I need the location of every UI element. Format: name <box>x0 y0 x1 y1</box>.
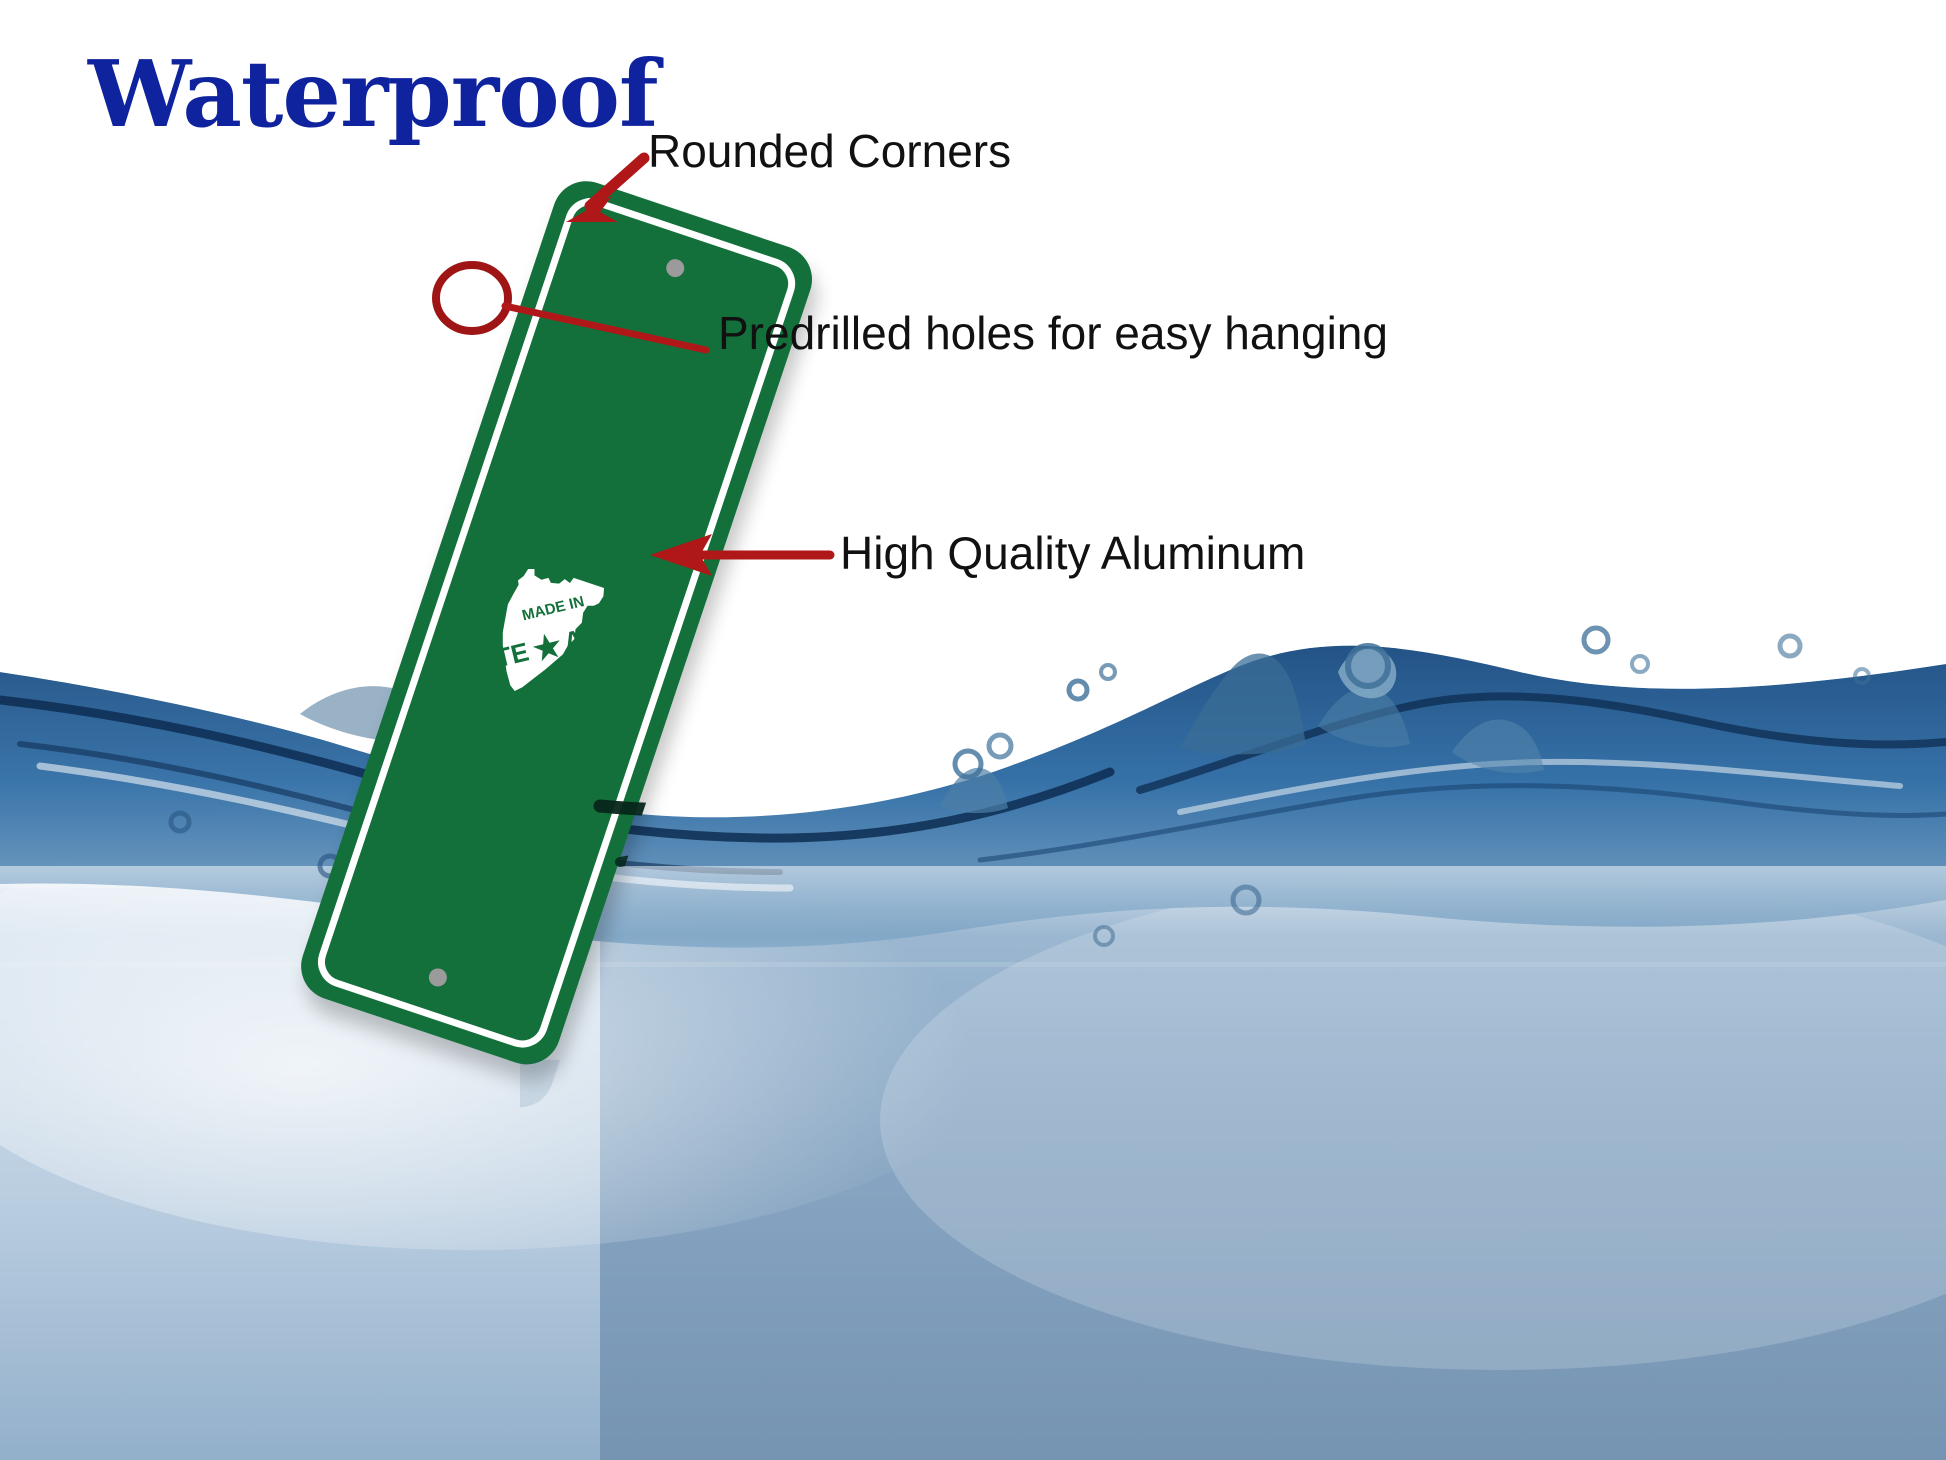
callout-predrilled-holes: Predrilled holes for easy hanging <box>718 310 1388 356</box>
infographic-canvas: MADE IN TE ★ AS <box>0 0 1946 1460</box>
callout-rounded-corners: Rounded Corners <box>648 128 1011 174</box>
page-title: Waterproof <box>88 48 658 140</box>
callout-high-quality-aluminum: High Quality Aluminum <box>840 530 1305 576</box>
